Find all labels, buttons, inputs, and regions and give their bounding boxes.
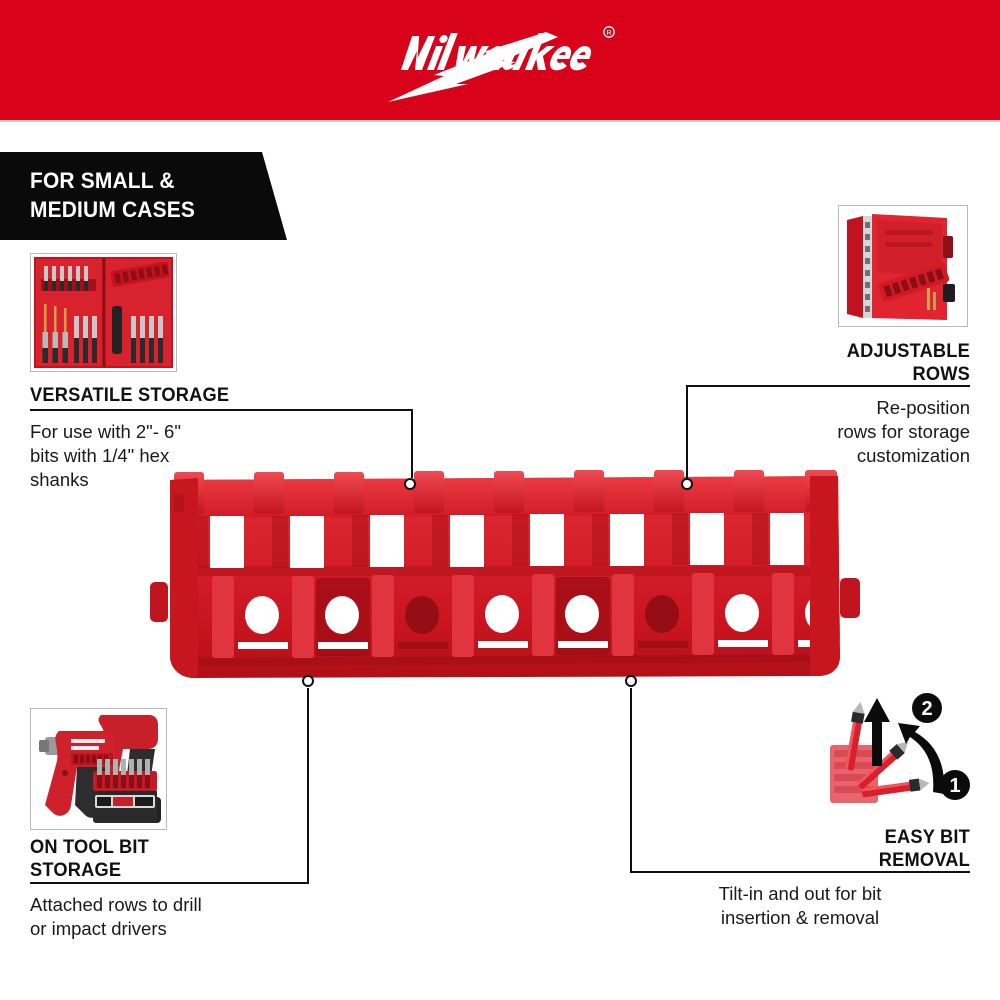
open-red-case-with-driver-bits-icon [31,254,176,371]
header-band-divider [0,120,1000,122]
thumbnail-adjustable-rows [838,205,968,327]
red-case-with-removable-bit-row-icon [839,206,967,326]
for-small-medium-cases-banner: FOR SMALL & MEDIUM CASES [0,152,300,240]
banner-label: FOR SMALL & MEDIUM CASES [30,166,244,224]
step-two-label: 2 [921,698,932,720]
feature-title-versatile-storage: VERSATILE STORAGE [30,384,229,407]
feature-title-on-tool-bit-storage: ON TOOL BIT STORAGE [30,836,149,882]
impact-drivers-with-attached-bit-rows-icon [31,709,166,829]
thumbnail-on-tool-bit-storage [30,708,167,830]
feature-body-versatile-storage: For use with 2"- 6" bits with 1/4" hex s… [30,420,330,492]
feature-body-adjustable-rows: Re-position rows for storage customizati… [670,396,970,468]
infographic-page: R FOR SMALL & MEDIUM CASES [0,0,1000,1000]
feature-title-adjustable-rows: ADJUSTABLE ROWS [682,340,970,386]
bit-rack-tilt-out-diagram-icon: 2 1 [820,690,980,820]
diagram-easy-bit-removal: 2 1 [820,690,980,820]
svg-text:R: R [606,30,611,37]
feature-title-easy-bit-removal: EASY BIT REMOVAL [663,826,970,872]
feature-body-on-tool-bit-storage: Attached rows to drill or impact drivers [30,893,350,941]
milwaukee-logo: R [370,18,630,104]
feature-body-easy-bit-removal: Tilt-in and out for bit insertion & remo… [630,882,970,930]
product-image-bit-rack [150,470,860,685]
milwaukee-logo-icon: R [370,18,630,104]
red-bit-rack-icon [150,470,860,685]
thumbnail-versatile-storage [30,253,177,372]
step-one-label: 1 [949,775,960,797]
